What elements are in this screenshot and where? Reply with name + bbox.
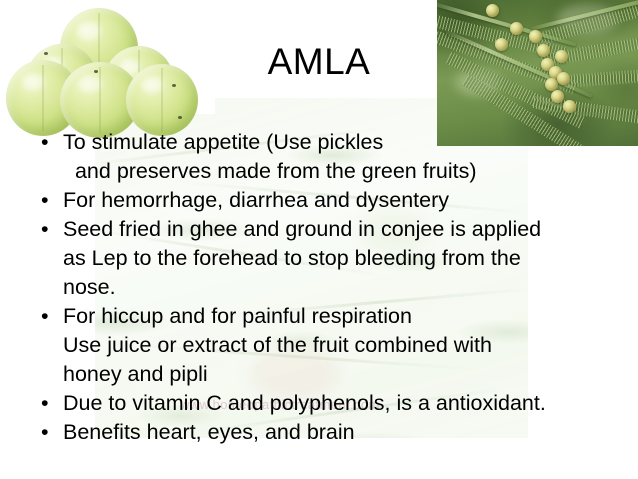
berry-spot — [178, 116, 182, 119]
bullet-marker-icon: • — [41, 302, 49, 331]
bullet-item: •For hemorrhage, diarrhea and dysentery — [30, 186, 630, 215]
bullet-line: as Lep to the forehead to stop bleeding … — [63, 244, 630, 273]
bullet-line: Seed fried in ghee and ground in conjee … — [63, 215, 630, 244]
tree-amla-fruit — [486, 4, 499, 17]
tree-amla-fruit — [563, 100, 576, 113]
berry-highlight — [77, 22, 100, 40]
bullet-item: •Benefits heart, eyes, and brain — [30, 418, 630, 447]
bullet-line: For hiccup and for painful respiration — [63, 302, 630, 331]
bullet-marker-icon: • — [41, 215, 49, 244]
bullet-line: Due to vitamin C and polyphenols, is a a… — [63, 389, 630, 418]
tree-amla-fruit — [510, 22, 523, 35]
bullet-line: To stimulate appetite (Use pickles — [63, 128, 630, 157]
bullet-item: •Due to vitamin C and polyphenols, is a … — [30, 389, 630, 418]
slide-canvas: AMLA www.homeopathictreatment.com •To st… — [0, 0, 638, 479]
bullet-marker-icon: • — [41, 418, 49, 447]
bullet-line: and preserves made from the green fruits… — [63, 157, 630, 186]
slide-title: AMLA — [0, 43, 638, 82]
bullet-line: honey and pipli — [63, 360, 630, 389]
bullet-line: nose. — [63, 273, 630, 302]
bullet-marker-icon: • — [41, 186, 49, 215]
bullet-line: Use juice or extract of the fruit combin… — [63, 331, 630, 360]
berry-spot — [172, 84, 176, 87]
bullet-line: Benefits heart, eyes, and brain — [63, 418, 630, 447]
bullet-item: •Seed fried in ghee and ground in conjee… — [30, 215, 630, 302]
bullet-item: •To stimulate appetite (Use pickles and … — [30, 128, 630, 186]
tree-amla-fruit — [529, 30, 542, 43]
bullet-marker-icon: • — [41, 128, 49, 157]
bullet-item: •For hiccup and for painful respirationU… — [30, 302, 630, 389]
bullet-line: For hemorrhage, diarrhea and dysentery — [63, 186, 630, 215]
tree-amla-fruit — [551, 90, 564, 103]
bullet-list: •To stimulate appetite (Use pickles and … — [30, 128, 630, 447]
bullet-marker-icon: • — [41, 389, 49, 418]
